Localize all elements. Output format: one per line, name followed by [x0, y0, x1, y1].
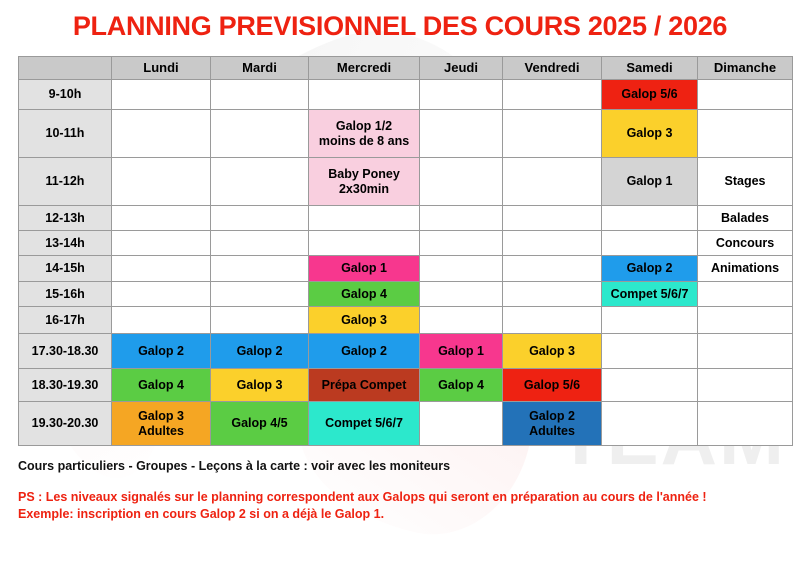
header-row: Lundi Mardi Mercredi Jeudi Vendredi Same…: [19, 57, 793, 80]
table-row: 14-15hGalop 1Galop 2Animations: [19, 256, 793, 282]
footer-ps-block: PS : Les niveaux signalés sur le plannin…: [18, 489, 800, 524]
slot-text-line: Galop 1/2: [309, 119, 419, 134]
table-row: 12-13hBalades: [19, 206, 793, 231]
slot-text-line: Compet 5/6/7: [602, 287, 697, 302]
slot-dimanche-1213h[interactable]: Balades: [698, 206, 793, 231]
slot-mardi-18301930[interactable]: Galop 3: [211, 369, 309, 402]
table-row: 19.30-20.30Galop 3AdultesGalop 4/5Compet…: [19, 402, 793, 446]
slot-mercredi-1516h[interactable]: Galop 4: [309, 282, 420, 307]
slot-mercredi-17301830[interactable]: Galop 2: [309, 334, 420, 369]
schedule-table: Lundi Mardi Mercredi Jeudi Vendredi Same…: [18, 56, 793, 446]
slot-text-line: Galop 4: [309, 287, 419, 302]
slot-text-line: Galop 5/6: [503, 378, 601, 393]
slot-lundi-18301930[interactable]: Galop 4: [112, 369, 211, 402]
table-row: 11-12hBaby Poney2x30minGalop 1Stages: [19, 158, 793, 206]
time-slot-label: 19.30-20.30: [19, 402, 112, 446]
slot-text-line: Galop 2: [503, 409, 601, 424]
slot-lundi-1112h: [112, 158, 211, 206]
slot-mardi-1617h: [211, 307, 309, 334]
slot-mardi-19302030[interactable]: Galop 4/5: [211, 402, 309, 446]
table-row: 18.30-19.30Galop 4Galop 3Prépa CompetGal…: [19, 369, 793, 402]
time-slot-label: 14-15h: [19, 256, 112, 282]
slot-jeudi-1415h: [420, 256, 503, 282]
slot-lundi-1213h: [112, 206, 211, 231]
slot-text-line: Balades: [698, 211, 792, 226]
slot-dimanche-19302030: [698, 402, 793, 446]
slot-dimanche-18301930: [698, 369, 793, 402]
slot-mardi-17301830[interactable]: Galop 2: [211, 334, 309, 369]
slot-jeudi-1617h: [420, 307, 503, 334]
table-row: 15-16hGalop 4Compet 5/6/7: [19, 282, 793, 307]
slot-vendredi-18301930[interactable]: Galop 5/6: [503, 369, 602, 402]
slot-samedi-1314h: [602, 231, 698, 256]
slot-mercredi-1112h[interactable]: Baby Poney2x30min: [309, 158, 420, 206]
slot-lundi-17301830[interactable]: Galop 2: [112, 334, 211, 369]
slot-jeudi-1011h: [420, 110, 503, 158]
slot-text-line: Galop 3: [112, 409, 210, 424]
time-slot-label: 17.30-18.30: [19, 334, 112, 369]
slot-text-line: Galop 4: [420, 378, 502, 393]
header-day-jeudi: Jeudi: [420, 57, 503, 80]
slot-jeudi-17301830[interactable]: Galop 1: [420, 334, 503, 369]
table-row: 17.30-18.30Galop 2Galop 2Galop 2Galop 1G…: [19, 334, 793, 369]
slot-text-line: Galop 2: [602, 261, 697, 276]
slot-text-line: Prépa Compet: [309, 378, 419, 393]
slot-text-line: Galop 3: [211, 378, 308, 393]
slot-mercredi-910h: [309, 80, 420, 110]
slot-text-line: Galop 2: [211, 344, 308, 359]
slot-text-line: Stages: [698, 174, 792, 189]
slot-text-line: Galop 1: [309, 261, 419, 276]
time-slot-label: 16-17h: [19, 307, 112, 334]
time-slot-label: 15-16h: [19, 282, 112, 307]
slot-samedi-1213h: [602, 206, 698, 231]
slot-samedi-18301930: [602, 369, 698, 402]
slot-samedi-1617h: [602, 307, 698, 334]
slot-text-line: moins de 8 ans: [309, 134, 419, 149]
slot-text-line: Baby Poney: [309, 167, 419, 182]
table-row: 13-14hConcours: [19, 231, 793, 256]
slot-dimanche-910h: [698, 80, 793, 110]
slot-jeudi-1516h: [420, 282, 503, 307]
slot-mardi-1516h: [211, 282, 309, 307]
slot-text-line: Animations: [698, 261, 792, 276]
table-row: 16-17hGalop 3: [19, 307, 793, 334]
slot-samedi-1112h[interactable]: Galop 1: [602, 158, 698, 206]
slot-mercredi-1415h[interactable]: Galop 1: [309, 256, 420, 282]
slot-mercredi-19302030[interactable]: Compet 5/6/7: [309, 402, 420, 446]
slot-lundi-19302030[interactable]: Galop 3Adultes: [112, 402, 211, 446]
slot-jeudi-910h: [420, 80, 503, 110]
table-row: 10-11hGalop 1/2moins de 8 ansGalop 3: [19, 110, 793, 158]
slot-text-line: Galop 3: [309, 313, 419, 328]
slot-samedi-1011h[interactable]: Galop 3: [602, 110, 698, 158]
slot-text-line: Galop 2: [112, 344, 210, 359]
header-day-samedi: Samedi: [602, 57, 698, 80]
slot-mercredi-1314h: [309, 231, 420, 256]
slot-samedi-19302030: [602, 402, 698, 446]
slot-dimanche-1516h: [698, 282, 793, 307]
slot-text-line: Galop 4: [112, 378, 210, 393]
slot-vendredi-19302030[interactable]: Galop 2Adultes: [503, 402, 602, 446]
footer-ps-line-1: PS : Les niveaux signalés sur le plannin…: [18, 489, 800, 506]
time-slot-label: 12-13h: [19, 206, 112, 231]
slot-vendredi-1415h: [503, 256, 602, 282]
time-slot-label: 13-14h: [19, 231, 112, 256]
slot-samedi-17301830: [602, 334, 698, 369]
slot-dimanche-1314h[interactable]: Concours: [698, 231, 793, 256]
slot-mardi-910h: [211, 80, 309, 110]
slot-text-line: Galop 3: [602, 126, 697, 141]
header-day-mercredi: Mercredi: [309, 57, 420, 80]
slot-text-line: Galop 1: [420, 344, 502, 359]
slot-vendredi-1516h: [503, 282, 602, 307]
slot-text-line: Compet 5/6/7: [309, 416, 419, 431]
slot-jeudi-1112h: [420, 158, 503, 206]
slot-jeudi-1314h: [420, 231, 503, 256]
slot-mardi-1112h: [211, 158, 309, 206]
slot-text-line: Adultes: [503, 424, 601, 439]
table-body: 9-10hGalop 5/610-11hGalop 1/2moins de 8 …: [19, 80, 793, 446]
slot-jeudi-19302030: [420, 402, 503, 446]
slot-lundi-910h: [112, 80, 211, 110]
slot-mercredi-1011h[interactable]: Galop 1/2moins de 8 ans: [309, 110, 420, 158]
slot-mardi-1213h: [211, 206, 309, 231]
schedule-table-container: Lundi Mardi Mercredi Jeudi Vendredi Same…: [18, 56, 784, 446]
footer-private-lessons-note: Cours particuliers - Groupes - Leçons à …: [18, 459, 800, 473]
slot-text-line: Galop 2: [309, 344, 419, 359]
slot-mardi-1314h: [211, 231, 309, 256]
page-title: PLANNING PREVISIONNEL DES COURS 2025 / 2…: [0, 0, 800, 42]
table-row: 9-10hGalop 5/6: [19, 80, 793, 110]
slot-jeudi-1213h: [420, 206, 503, 231]
footer-notes: Cours particuliers - Groupes - Leçons à …: [18, 459, 800, 524]
slot-vendredi-1011h: [503, 110, 602, 158]
slot-text-line: Concours: [698, 236, 792, 251]
slot-dimanche-1112h[interactable]: Stages: [698, 158, 793, 206]
slot-vendredi-910h: [503, 80, 602, 110]
slot-mardi-1415h: [211, 256, 309, 282]
slot-mardi-1011h: [211, 110, 309, 158]
slot-lundi-1516h: [112, 282, 211, 307]
slot-text-line: Galop 1: [602, 174, 697, 189]
header-day-lundi: Lundi: [112, 57, 211, 80]
header-corner: [19, 57, 112, 80]
time-slot-label: 10-11h: [19, 110, 112, 158]
time-slot-label: 11-12h: [19, 158, 112, 206]
slot-text-line: Galop 3: [503, 344, 601, 359]
slot-lundi-1415h: [112, 256, 211, 282]
slot-mercredi-1617h[interactable]: Galop 3: [309, 307, 420, 334]
slot-lundi-1314h: [112, 231, 211, 256]
slot-jeudi-18301930[interactable]: Galop 4: [420, 369, 503, 402]
slot-mercredi-1213h: [309, 206, 420, 231]
slot-mercredi-18301930[interactable]: Prépa Compet: [309, 369, 420, 402]
slot-dimanche-1617h: [698, 307, 793, 334]
slot-dimanche-1415h[interactable]: Animations: [698, 256, 793, 282]
slot-dimanche-17301830: [698, 334, 793, 369]
slot-text-line: Galop 5/6: [602, 87, 697, 102]
header-day-vendredi: Vendredi: [503, 57, 602, 80]
table-header: Lundi Mardi Mercredi Jeudi Vendredi Same…: [19, 57, 793, 80]
footer-ps-line-2: Exemple: inscription en cours Galop 2 si…: [18, 506, 800, 523]
slot-dimanche-1011h: [698, 110, 793, 158]
time-slot-label: 9-10h: [19, 80, 112, 110]
slot-vendredi-1617h: [503, 307, 602, 334]
slot-text-line: 2x30min: [309, 182, 419, 197]
slot-lundi-1011h: [112, 110, 211, 158]
slot-vendredi-1112h: [503, 158, 602, 206]
header-day-mardi: Mardi: [211, 57, 309, 80]
slot-samedi-1516h[interactable]: Compet 5/6/7: [602, 282, 698, 307]
slot-samedi-1415h[interactable]: Galop 2: [602, 256, 698, 282]
time-slot-label: 18.30-19.30: [19, 369, 112, 402]
slot-text-line: Adultes: [112, 424, 210, 439]
slot-vendredi-1213h: [503, 206, 602, 231]
slot-vendredi-17301830[interactable]: Galop 3: [503, 334, 602, 369]
slot-vendredi-1314h: [503, 231, 602, 256]
slot-text-line: Galop 4/5: [211, 416, 308, 431]
header-day-dimanche: Dimanche: [698, 57, 793, 80]
slot-samedi-910h[interactable]: Galop 5/6: [602, 80, 698, 110]
slot-lundi-1617h: [112, 307, 211, 334]
